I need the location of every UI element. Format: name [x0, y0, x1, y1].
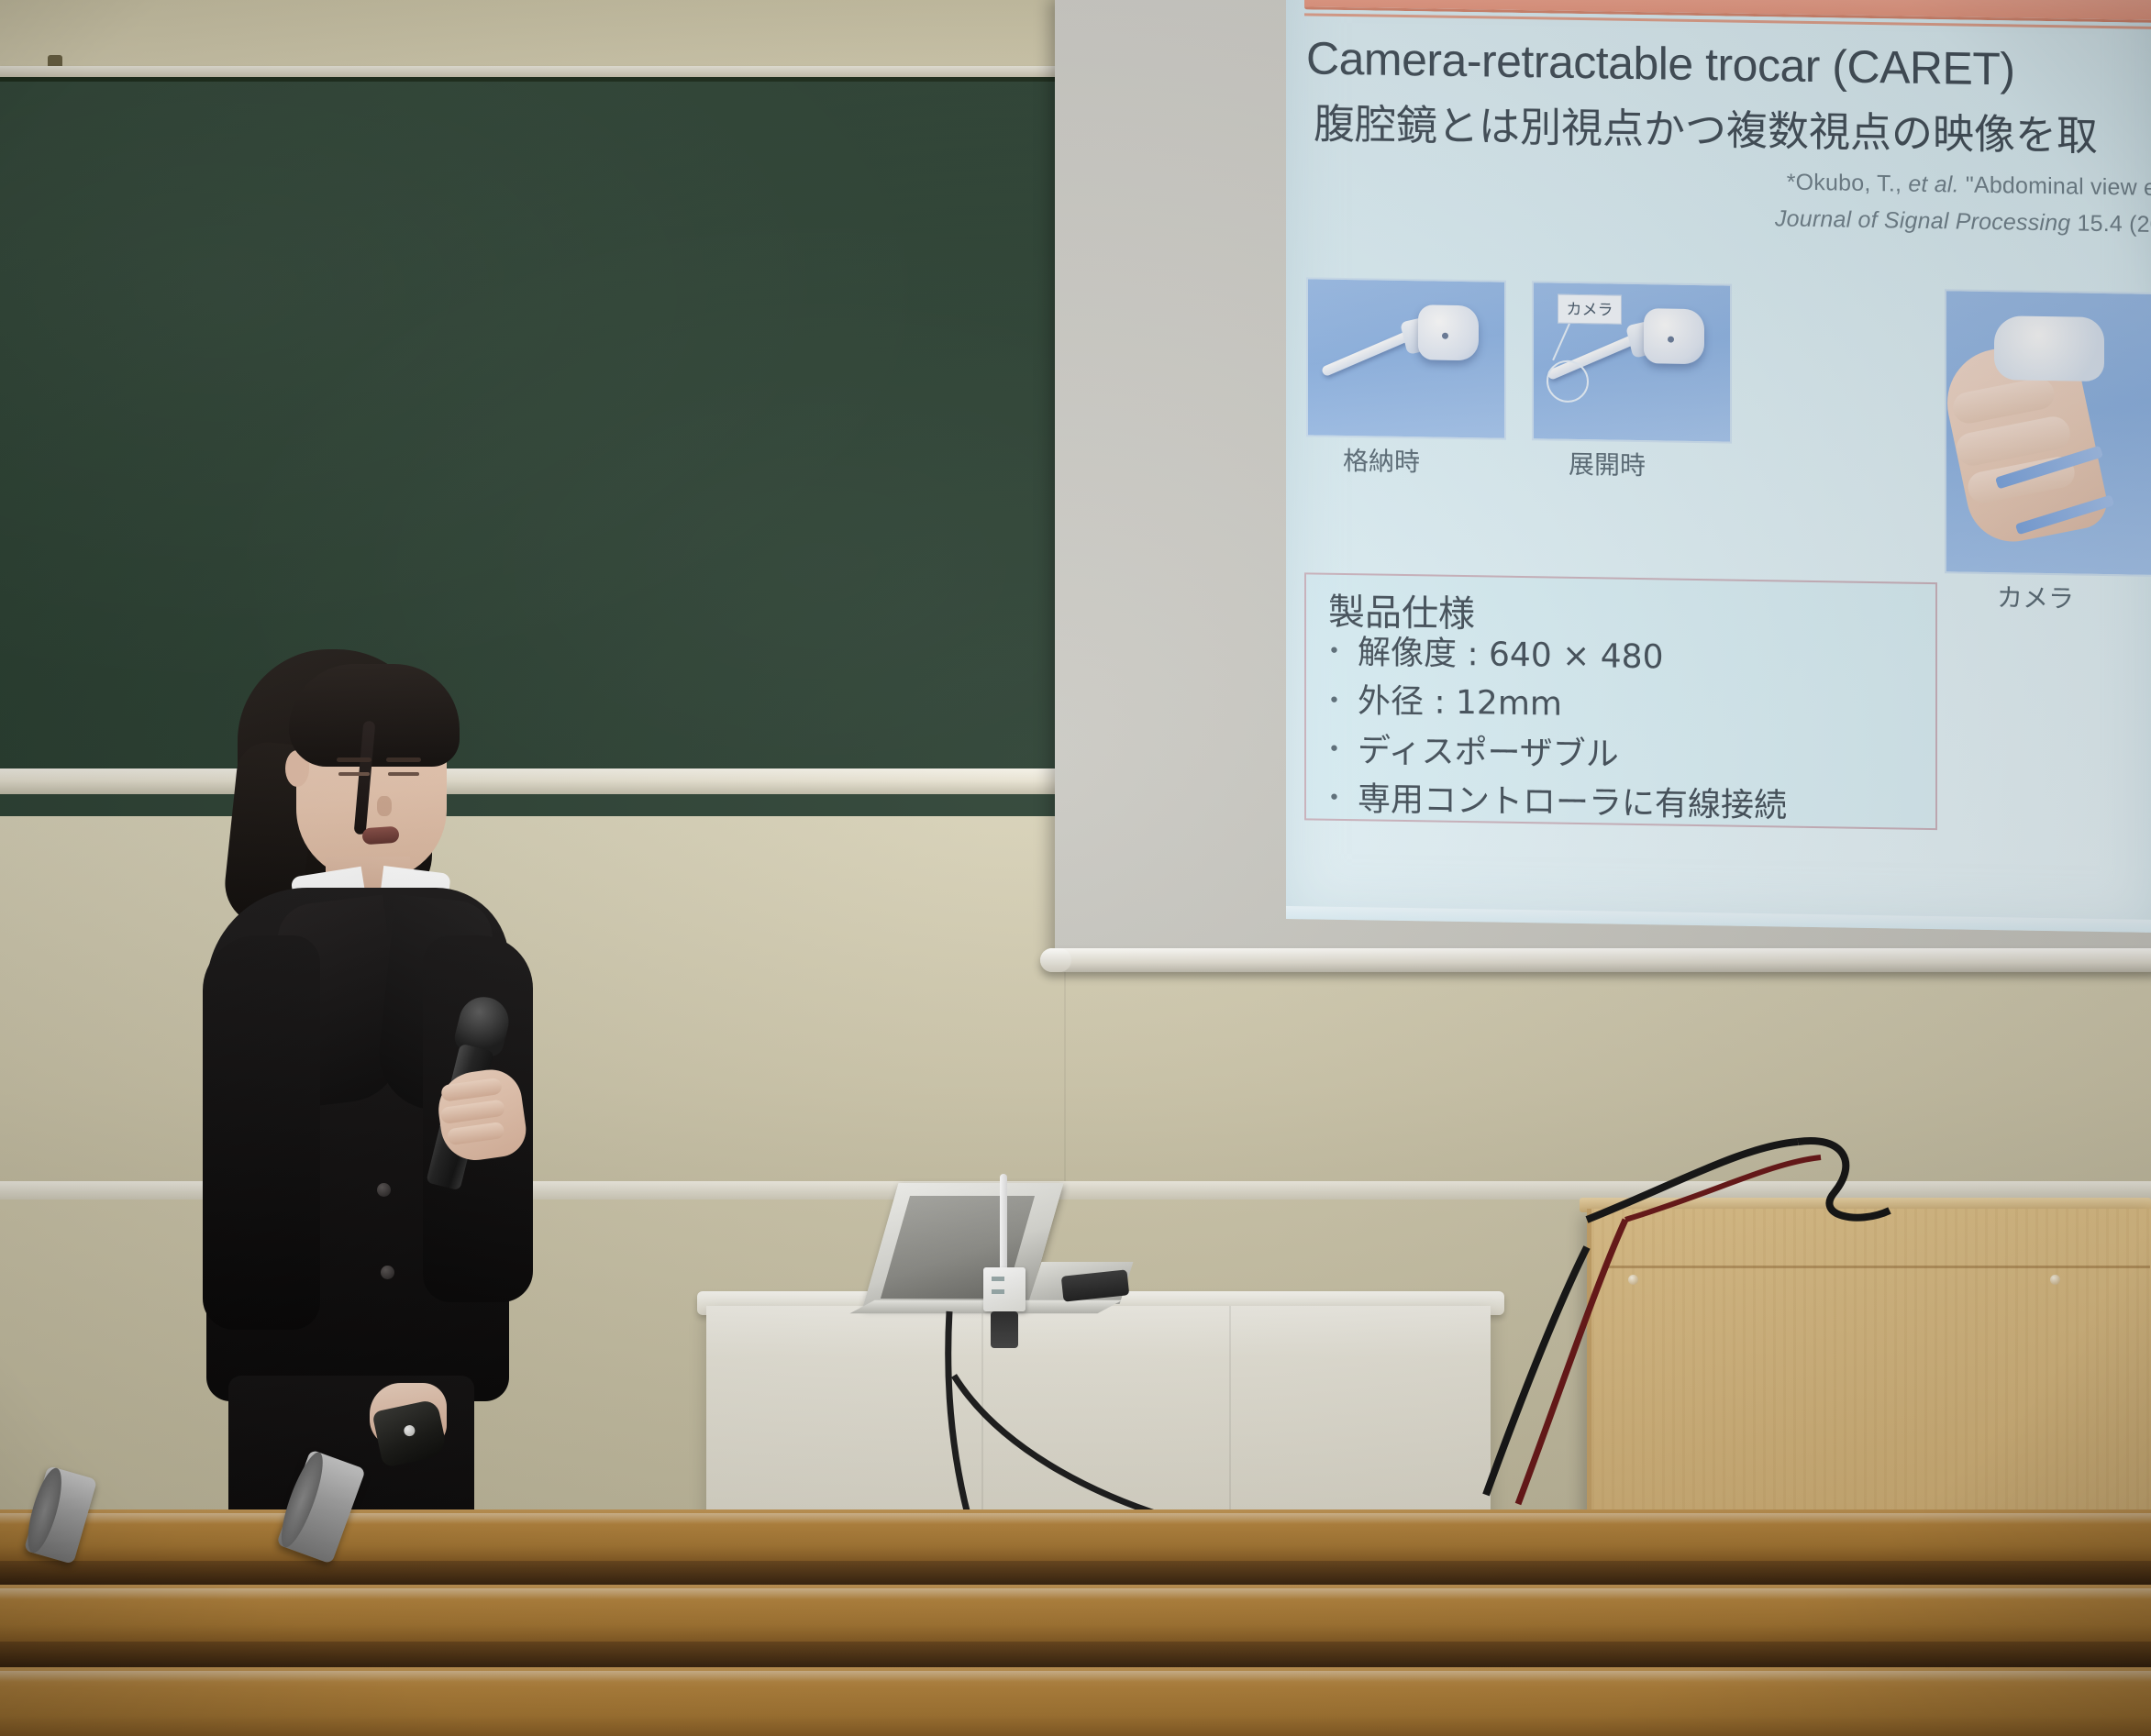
presenter-eye-right [388, 772, 419, 776]
podium-screw-right [2050, 1275, 2060, 1285]
citation-author: *Okubo, T., [1787, 170, 1902, 197]
camera-highlight-circle-icon [1547, 359, 1589, 403]
spec-item-diameter: • 外径 : 12mm [1328, 677, 1787, 733]
presenter-nose [377, 796, 392, 816]
spec-item-label: 外径 : 12mm [1358, 677, 1562, 729]
photo-caption-deployed: 展開時 [1569, 445, 1646, 482]
screen-bar-end-knob [1040, 948, 1071, 972]
slide-subtitle-japanese: 腹腔鏡とは別視点かつ複数視点の映像を取 [1314, 90, 2098, 161]
podium-screw-left [1628, 1275, 1638, 1285]
spec-item-label: ディスポーザブル [1358, 726, 1619, 780]
spec-item-label: 専用コントローラに有線接続 [1358, 775, 1787, 831]
product-spec-box: 製品仕様 • 解像度 : 640 × 480 • 外径 : 12mm • ディス [1304, 572, 1937, 830]
spec-item-label: 解像度 : 640 × 480 [1358, 628, 1664, 682]
citation-line-2: Journal of Signal Processing 15.4 (201 [1775, 205, 2151, 238]
bench-row-1-front [0, 1561, 2151, 1585]
presenter [197, 633, 674, 1495]
slide-heading-english: Camera-retractable trocar (CARET) [1306, 31, 2015, 95]
desk-mic-receiver [983, 1267, 1026, 1311]
presenter-mouth [361, 826, 399, 846]
slide-photo-trocar-deployed: カメラ [1532, 281, 1732, 443]
laptop [862, 1183, 1119, 1321]
camera-callout-label: カメラ [1558, 294, 1622, 325]
mic-clamp [991, 1311, 1018, 1348]
bullet-icon: • [1328, 686, 1345, 716]
spec-item-disposable: • ディスポーザブル [1328, 725, 1787, 781]
jacket-sleeve-left [203, 935, 320, 1330]
spec-item-list: • 解像度 : 640 × 480 • 外径 : 12mm • ディスポーザブル [1328, 628, 1787, 831]
jacket-button-upper [377, 1183, 391, 1197]
bullet-icon: • [1328, 637, 1345, 668]
slide-photo-hand-holding [1945, 289, 2151, 577]
citation-line-1: *Okubo, T., et al. "Abdominal view expa [1787, 170, 2151, 203]
citation-title: "Abdominal view expa [1966, 172, 2151, 202]
trocar-in-hand-illustration [1994, 315, 2104, 381]
bullet-icon: • [1328, 735, 1345, 766]
slide-photo-trocar-stored [1306, 277, 1506, 439]
bench-row-2-front [0, 1642, 2151, 1667]
screen-bottom-bar [1040, 948, 2151, 972]
podium-groove [1604, 1266, 2150, 1268]
presenter-eyebrow-right [386, 757, 421, 762]
jacket-button-lower [381, 1266, 394, 1279]
lecture-hall-scene: カメラ付きトロカー Camera-retractable trocar (CAR… [0, 0, 2151, 1736]
projector-screen: カメラ付きトロカー Camera-retractable trocar (CAR… [1055, 0, 2151, 980]
citation-volume: 15.4 (201 [2070, 210, 2151, 238]
presenter-eye-left [338, 772, 370, 776]
clicker-button-icon [403, 1424, 416, 1437]
presenter-eyebrow-left [337, 757, 371, 762]
presenter-fringe [289, 664, 460, 767]
citation-journal: Journal of Signal Processing [1775, 205, 2070, 236]
callout-leader-line [1552, 323, 1570, 360]
citation-etal: et al. [1908, 171, 1958, 198]
photo-caption-camera: カメラ [1997, 578, 2074, 615]
audience-benches [0, 1509, 2151, 1736]
photo-caption-stored: 格納時 [1343, 441, 1420, 479]
spec-item-controller: • 専用コントローラに有線接続 [1328, 775, 1787, 831]
chalkboard-top-rail [0, 66, 1092, 77]
bullet-icon: • [1328, 784, 1345, 814]
spec-item-resolution: • 解像度 : 640 × 480 [1328, 628, 1787, 684]
projected-slide: カメラ付きトロカー Camera-retractable trocar (CAR… [1286, 0, 2151, 933]
